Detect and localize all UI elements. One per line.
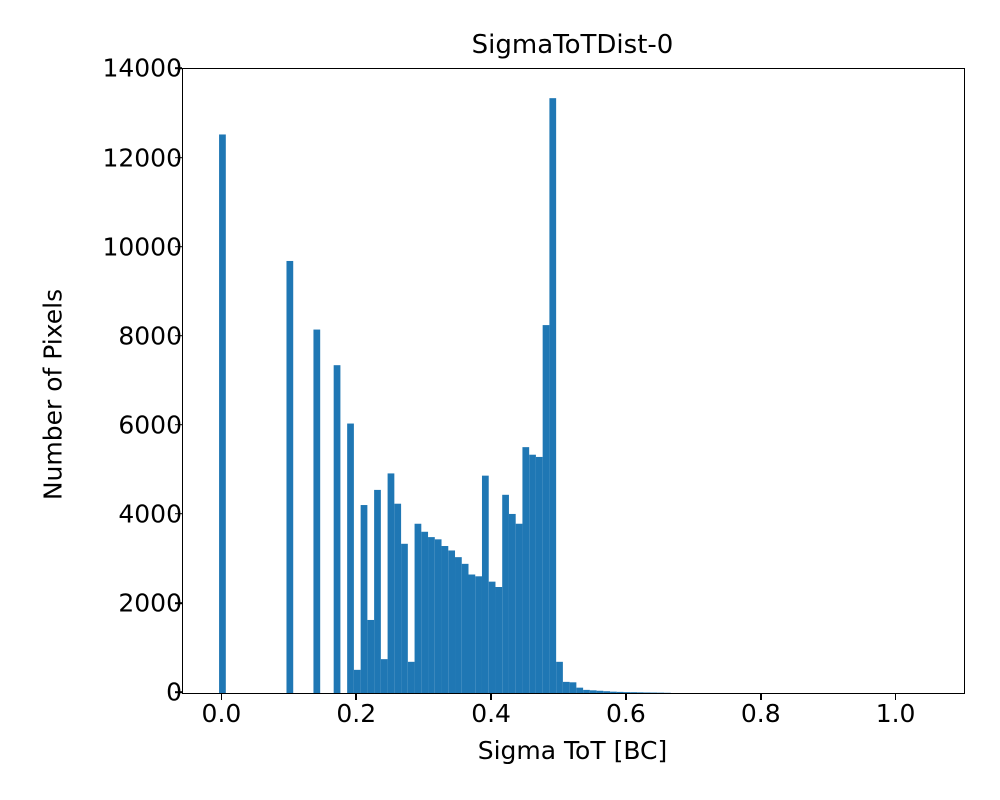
x-tick-mark (625, 693, 627, 700)
figure-canvas: SigmaToTDist-0 0200040006000800010000120… (0, 0, 1000, 800)
x-axis: 0.00.20.40.60.81.0 (0, 0, 1000, 800)
x-tick-label: 0.0 (151, 700, 291, 728)
x-tick-mark (895, 693, 897, 700)
x-tick-label: 0.4 (421, 700, 561, 728)
x-tick-mark (490, 693, 492, 700)
x-tick-mark (355, 693, 357, 700)
x-tick-label: 0.8 (691, 700, 831, 728)
x-axis-label: Sigma ToT [BC] (182, 736, 963, 765)
x-tick-mark (221, 693, 223, 700)
x-tick-label: 1.0 (826, 700, 966, 728)
x-tick-label: 0.2 (286, 700, 426, 728)
x-tick-label: 0.6 (556, 700, 696, 728)
x-tick-mark (760, 693, 762, 700)
